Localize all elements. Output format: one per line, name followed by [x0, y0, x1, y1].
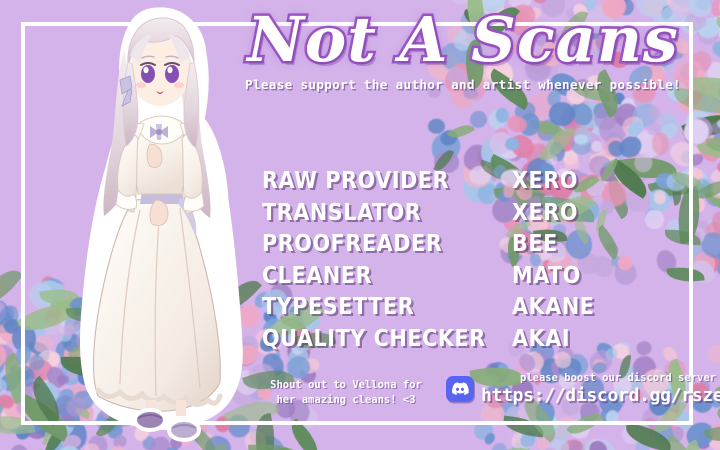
credit-role: QUALITY CHECKER — [262, 326, 512, 352]
discord-icon[interactable] — [446, 376, 474, 402]
credits-page: Not A Scans Please support the author an… — [0, 0, 720, 450]
shoutout-line-1: Shout out to Vellona for — [258, 378, 434, 393]
discord-text-block: please boost our discord server https://… — [481, 372, 720, 406]
credit-row-typesetter: TYPESETTER AKANE — [262, 294, 662, 326]
character-illustration — [72, 4, 244, 450]
discord-invite-link[interactable]: https://discord.gg/rszeywm — [481, 385, 720, 406]
page-title: Not A Scans — [232, 8, 694, 71]
character-svg — [72, 4, 244, 450]
credit-role: PROOFREADER — [262, 231, 512, 257]
credit-row-proofreader: PROOFREADER BEE — [262, 231, 662, 263]
support-message: Please support the author and artist whe… — [232, 77, 694, 92]
discord-boost-label: please boost our discord server — [520, 372, 716, 384]
credit-role: TYPESETTER — [262, 294, 512, 320]
credit-row-raw-provider: RAW PROVIDER XERO — [262, 168, 662, 200]
credits-list: RAW PROVIDER XERO TRANSLATOR XERO PROOFR… — [262, 168, 662, 357]
credit-role: TRANSLATOR — [262, 200, 512, 226]
credit-name: AKANE — [512, 294, 662, 320]
shoutout-line-2: her amazing cleans! <3 — [258, 393, 434, 408]
credit-row-quality-checker: QUALITY CHECKER AKAI — [262, 326, 662, 358]
credit-name: BEE — [512, 231, 662, 257]
discord-section[interactable]: please boost our discord server https://… — [446, 372, 720, 406]
credit-name: AKAI — [512, 326, 662, 352]
credit-name: MATO — [512, 263, 662, 289]
shoutout-message: Shout out to Vellona for her amazing cle… — [258, 378, 434, 408]
credit-row-cleaner: CLEANER MATO — [262, 263, 662, 295]
credit-role: RAW PROVIDER — [262, 168, 512, 194]
header: Not A Scans Please support the author an… — [232, 8, 694, 92]
discord-logo-glyph — [451, 382, 469, 396]
credit-row-translator: TRANSLATOR XERO — [262, 200, 662, 232]
credit-name: XERO — [512, 200, 662, 226]
credit-name: XERO — [512, 168, 662, 194]
credit-role: CLEANER — [262, 263, 512, 289]
